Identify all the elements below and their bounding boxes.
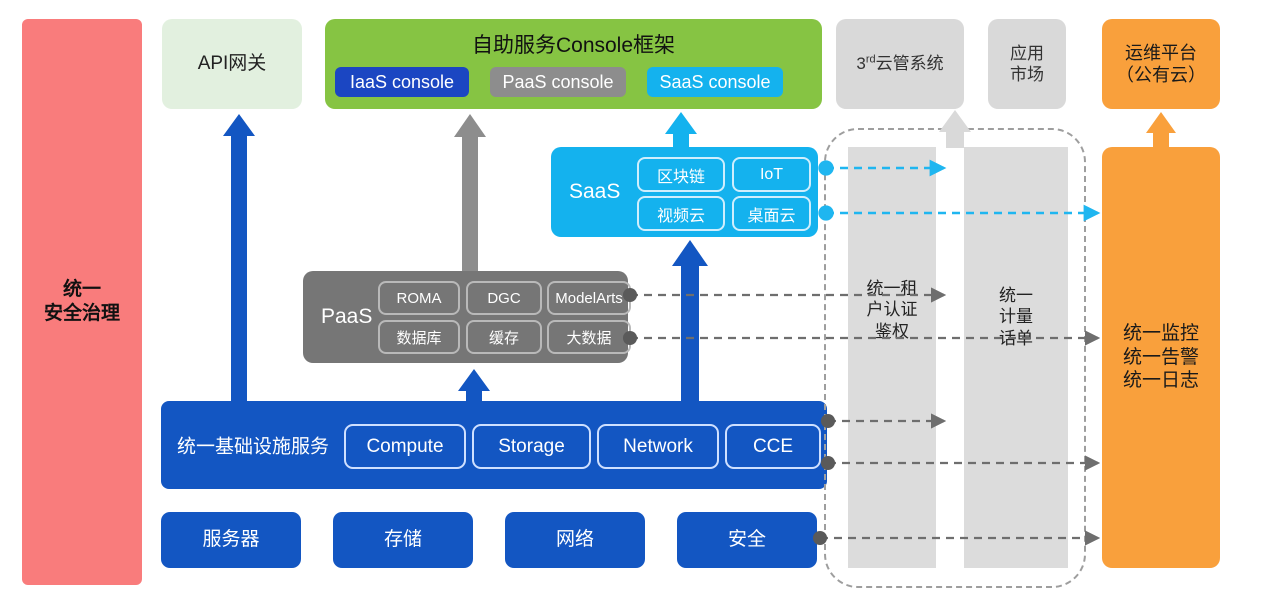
ops-platform-right-label: 统一监控统一告警统一日志 <box>1123 322 1199 393</box>
security-governance-label: 统一安全治理 <box>44 278 120 326</box>
arrow-ops-column-to-ops-platform <box>1146 112 1176 147</box>
saas-pill-iot[interactable]: IoT <box>732 157 811 192</box>
app-market-label: 应用市场 <box>1010 43 1044 86</box>
paas-pill-bigdata-label: 大数据 <box>566 327 611 348</box>
paas-pill-roma-label: ROMA <box>397 290 442 307</box>
chip-iaas-console[interactable]: IaaS console <box>335 67 469 97</box>
ops-platform-public-cloud-box: 运维平台（公有云） <box>1102 19 1220 109</box>
shared-service-billing-label: 统一计量话单 <box>964 285 1068 349</box>
saas-pill-desktop-cloud[interactable]: 桌面云 <box>732 196 811 231</box>
third-party-rest: 云管系统 <box>876 54 944 73</box>
paas-panel-title: PaaS <box>321 305 372 329</box>
paas-pill-modelarts[interactable]: ModelArts <box>547 281 631 315</box>
saas-pill-iot-label: IoT <box>760 166 783 184</box>
saas-panel: SaaS 区块链 IoT 视频云 桌面云 <box>551 147 818 237</box>
paas-pill-database-label: 数据库 <box>396 327 441 348</box>
saas-pill-desktop-cloud-label: 桌面云 <box>747 202 795 226</box>
chip-saas-console-label: SaaS console <box>659 72 770 93</box>
security-governance-column: 统一安全治理 <box>22 19 142 585</box>
paas-pill-roma[interactable]: ROMA <box>378 281 460 315</box>
saas-pill-blockchain-label: 区块链 <box>657 163 705 187</box>
infra-pill-network[interactable]: Network <box>597 424 719 469</box>
paas-pill-dgc[interactable]: DGC <box>466 281 542 315</box>
arrow-saas-to-console <box>665 112 697 147</box>
resource-box-server-label: 服务器 <box>202 528 259 552</box>
unified-infrastructure-bar: 统一基础设施服务 Compute Storage Network CCE <box>161 401 827 489</box>
chip-paas-console[interactable]: PaaS console <box>490 67 626 97</box>
infra-pill-storage[interactable]: Storage <box>472 424 591 469</box>
saas-panel-title: SaaS <box>569 180 620 204</box>
resource-box-security[interactable]: 安全 <box>677 512 817 568</box>
infra-pill-cce-label: CCE <box>753 436 793 458</box>
saas-pill-blockchain[interactable]: 区块链 <box>637 157 725 192</box>
chip-paas-console-label: PaaS console <box>502 72 613 93</box>
resource-box-storage[interactable]: 存储 <box>333 512 473 568</box>
paas-pill-cache-label: 缓存 <box>489 327 519 348</box>
resource-box-security-label: 安全 <box>728 528 766 552</box>
unified-infrastructure-title: 统一基础设施服务 <box>177 432 329 459</box>
infra-pill-storage-label: Storage <box>498 436 565 458</box>
third-party-prefix: 3 <box>856 54 865 73</box>
shared-service-auth-label: 统一租户认证鉴权 <box>848 278 936 342</box>
self-service-console-frame: 自助服务Console框架 IaaS console PaaS console … <box>325 19 822 109</box>
resource-box-network-label: 网络 <box>556 528 594 552</box>
arrow-infra-to-api-gateway <box>223 114 255 401</box>
chip-iaas-console-label: IaaS console <box>350 72 454 93</box>
third-party-superscript: rd <box>866 54 876 66</box>
third-party-cloud-mgmt-box: 3rd云管系统 <box>836 19 964 109</box>
resource-box-server[interactable]: 服务器 <box>161 512 301 568</box>
app-market-box: 应用市场 <box>988 19 1066 109</box>
resource-box-network[interactable]: 网络 <box>505 512 645 568</box>
ops-platform-public-cloud-label: 运维平台（公有云） <box>1116 42 1206 87</box>
arrow-infra-to-paas <box>458 369 490 401</box>
paas-pill-modelarts-label: ModelArts <box>555 290 623 307</box>
shared-service-billing-label-wrap: 统一计量话单 <box>964 285 1068 365</box>
paas-pill-cache[interactable]: 缓存 <box>466 320 542 354</box>
saas-pill-video-cloud-label: 视频云 <box>657 202 705 226</box>
chip-saas-console[interactable]: SaaS console <box>647 67 783 97</box>
api-gateway-label: API网关 <box>198 52 267 76</box>
infra-pill-compute[interactable]: Compute <box>344 424 466 469</box>
shared-service-auth-label-wrap: 统一租户认证鉴权 <box>848 278 936 358</box>
infra-pill-network-label: Network <box>623 436 693 458</box>
arrow-paas-to-console <box>454 114 486 271</box>
infra-pill-compute-label: Compute <box>366 436 443 458</box>
paas-pill-dgc-label: DGC <box>487 290 520 307</box>
paas-pill-bigdata[interactable]: 大数据 <box>547 320 631 354</box>
saas-pill-video-cloud[interactable]: 视频云 <box>637 196 725 231</box>
paas-pill-database[interactable]: 数据库 <box>378 320 460 354</box>
console-frame-title: 自助服务Console框架 <box>325 29 822 59</box>
infra-pill-cce[interactable]: CCE <box>725 424 821 469</box>
paas-panel: PaaS ROMA DGC ModelArts 数据库 缓存 大数据 <box>303 271 628 363</box>
third-party-cloud-mgmt-label: 3rd云管系统 <box>856 53 943 74</box>
api-gateway-box: API网关 <box>162 19 302 109</box>
ops-platform-right-column: 统一监控统一告警统一日志 <box>1102 147 1220 568</box>
architecture-diagram: 统一安全治理 API网关 自助服务Console框架 IaaS console … <box>0 0 1265 605</box>
arrow-infra-to-saas <box>672 240 708 401</box>
resource-box-storage-label: 存储 <box>384 528 422 552</box>
